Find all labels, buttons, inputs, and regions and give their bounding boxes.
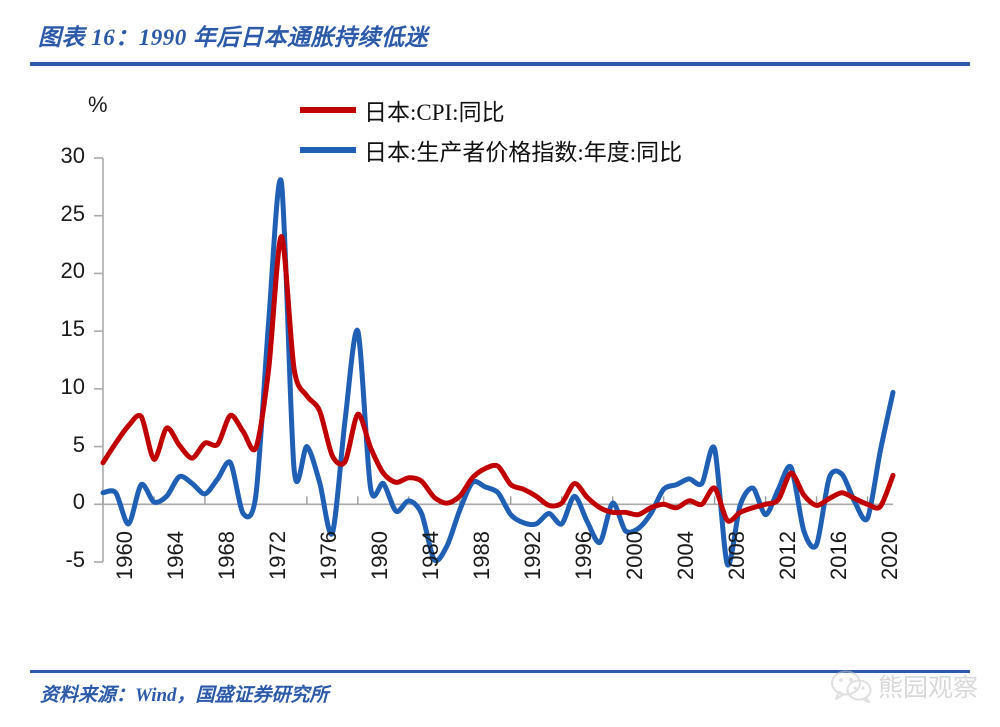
wechat-logo-icon — [830, 669, 874, 703]
watermark-text: 熊园观察 — [878, 668, 978, 704]
watermark: 熊园观察 — [830, 668, 978, 704]
chart-page: 图表 16：1990 年后日本通胀持续低迷 % 日本:CPI:同比 日本:生产者… — [0, 0, 1000, 727]
x-axis-tick-label: 2008 — [724, 531, 750, 580]
x-axis-tick-label: 2000 — [622, 531, 648, 580]
chart-header: 图表 16：1990 年后日本通胀持续低迷 — [0, 0, 1000, 70]
x-axis-tick-label: 1976 — [316, 531, 342, 580]
x-axis-tick-label: 1980 — [367, 531, 393, 580]
y-axis-tick-label: 30 — [35, 143, 85, 169]
y-axis-tick-label: 0 — [35, 489, 85, 515]
y-axis-tick-label: 10 — [35, 374, 85, 400]
y-axis-tick-label: 5 — [35, 432, 85, 458]
source-note: 资料来源：Wind，国盛证券研究所 — [40, 680, 329, 707]
x-axis-tick-label: 2016 — [826, 531, 852, 580]
x-axis-tick-label: 1988 — [469, 531, 495, 580]
x-axis-tick-label: 2012 — [775, 531, 801, 580]
x-axis-tick-label: 2004 — [673, 531, 699, 580]
x-axis-tick-label: 1984 — [418, 531, 444, 580]
x-axis-tick-label: 1992 — [520, 531, 546, 580]
y-axis-tick-label: -5 — [35, 547, 85, 573]
chart-series — [103, 180, 893, 565]
chart-body: % 日本:CPI:同比 日本:生产者价格指数:年度:同比 30252015105… — [0, 70, 1000, 670]
page-title: 图表 16：1990 年后日本通胀持续低迷 — [38, 18, 428, 52]
x-axis-tick-label: 1996 — [571, 531, 597, 580]
y-axis-tick-label: 25 — [35, 201, 85, 227]
x-axis-tick-label: 1960 — [112, 531, 138, 580]
header-divider — [30, 62, 970, 66]
y-axis-tick-label: 15 — [35, 316, 85, 342]
chart-plot — [0, 70, 1000, 670]
y-axis-tick-label: 20 — [35, 258, 85, 284]
x-axis-tick-label: 2020 — [877, 531, 903, 580]
x-axis-tick-label: 1964 — [163, 531, 189, 580]
x-axis-tick-label: 1968 — [214, 531, 240, 580]
x-axis-tick-label: 1972 — [265, 531, 291, 580]
